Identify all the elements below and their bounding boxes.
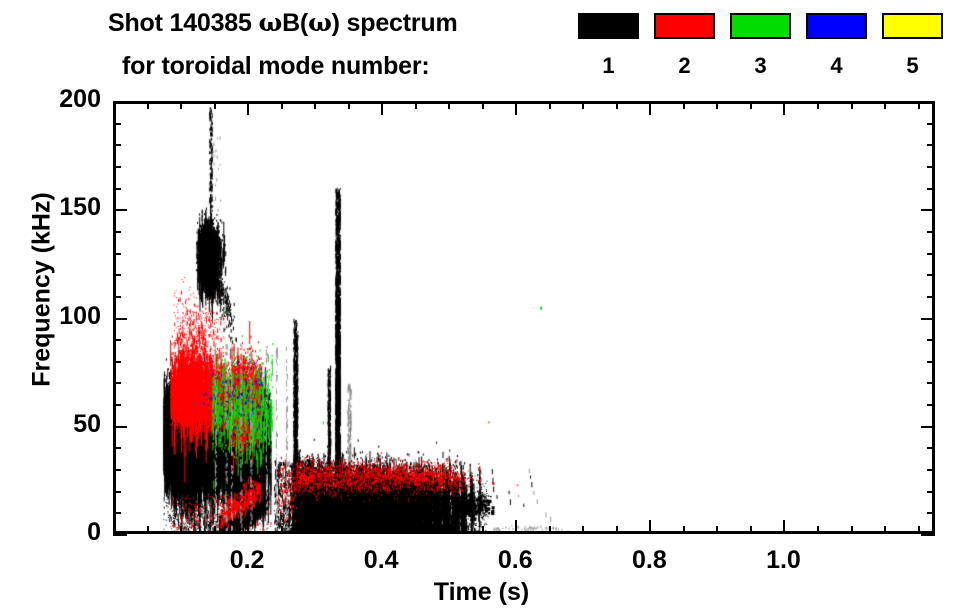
y-tick-100: [113, 318, 127, 320]
x-tick-0.05: [147, 526, 149, 534]
y-tick-right-40: [927, 447, 935, 449]
y-tick-130: [113, 253, 121, 255]
x-tick-top-1.15: [884, 101, 886, 109]
x-tick-top-0.4: [381, 101, 383, 115]
x-tick-top-0.95: [750, 101, 752, 109]
y-tick-right-30: [927, 469, 935, 471]
x-tick-top-0.75: [616, 101, 618, 109]
x-tick-top-1.2: [918, 101, 920, 109]
x-tick-1.05: [817, 526, 819, 534]
x-axis-title: Time (s): [0, 578, 963, 607]
x-tick-top-1: [783, 101, 785, 115]
y-tick-140: [113, 231, 121, 233]
x-tick-top-1.05: [817, 101, 819, 109]
y-tick-20: [113, 491, 121, 493]
figure-title-line2: for toroidal mode number:: [122, 52, 430, 81]
x-tick-1.1: [851, 526, 853, 534]
y-tick-right-90: [927, 339, 935, 341]
y-tick-right-70: [927, 382, 935, 384]
y-tick-70: [113, 382, 121, 384]
y-tick-right-0: [921, 534, 935, 536]
y-tick-120: [113, 274, 121, 276]
x-tick-top-0.45: [415, 101, 417, 109]
x-tick-top-0.5: [448, 101, 450, 109]
x-tick-1.2: [918, 526, 920, 534]
legend-swatch-mode-4: [806, 13, 867, 39]
x-tick-0.25: [281, 526, 283, 534]
x-tick-0.15: [214, 526, 216, 534]
x-axis-label-0.8: 0.8: [604, 546, 694, 575]
y-tick-0: [113, 534, 127, 536]
x-tick-top-0.05: [147, 101, 149, 109]
legend-swatch-mode-3: [730, 13, 791, 39]
y-tick-60: [113, 404, 121, 406]
legend-label-mode-5: 5: [882, 53, 943, 79]
x-tick-top-0.2: [247, 101, 249, 115]
x-tick-top-0.9: [716, 101, 718, 109]
x-tick-1: [783, 520, 785, 534]
legend-swatch-row: [578, 13, 950, 40]
y-tick-50: [113, 426, 127, 428]
y-tick-right-50: [921, 426, 935, 428]
y-axis-label-200: 200: [15, 85, 101, 114]
y-tick-right-10: [927, 512, 935, 514]
y-tick-right-80: [927, 361, 935, 363]
x-tick-top-0.15: [214, 101, 216, 109]
mode-number-legend: 12345: [578, 13, 950, 83]
y-tick-80: [113, 361, 121, 363]
spectrogram-data-canvas: [113, 101, 935, 534]
x-tick-0.6: [515, 520, 517, 534]
y-tick-right-20: [927, 491, 935, 493]
y-tick-40: [113, 447, 121, 449]
x-tick-0.85: [683, 526, 685, 534]
legend-label-mode-1: 1: [578, 53, 639, 79]
y-tick-right-140: [927, 231, 935, 233]
x-tick-top-0.6: [515, 101, 517, 115]
x-axis-label-0.2: 0.2: [202, 546, 292, 575]
y-tick-190: [113, 123, 121, 125]
plot-area: [113, 101, 935, 534]
y-tick-170: [113, 166, 121, 168]
x-tick-0.1: [180, 526, 182, 534]
x-tick-top-1.1: [851, 101, 853, 109]
legend-swatch-mode-2: [654, 13, 715, 39]
y-tick-right-170: [927, 166, 935, 168]
x-tick-0.2: [247, 520, 249, 534]
x-tick-0.95: [750, 526, 752, 534]
x-tick-top-0.55: [482, 101, 484, 109]
y-tick-right-120: [927, 274, 935, 276]
title-shot-text: Shot 140385: [108, 9, 258, 37]
x-tick-top-0.1: [180, 101, 182, 109]
x-tick-top-0.7: [582, 101, 584, 109]
y-tick-90: [113, 339, 121, 341]
y-tick-right-180: [927, 144, 935, 146]
x-tick-0.45: [415, 526, 417, 534]
x-tick-top-0.65: [549, 101, 551, 109]
legend-swatch-mode-1: [578, 13, 639, 39]
x-tick-top-0.25: [281, 101, 283, 109]
omega-symbol-1: ω: [258, 8, 282, 37]
x-axis-label-1.0: 1.0: [738, 546, 828, 575]
y-tick-150: [113, 209, 127, 211]
x-tick-top-0.85: [683, 101, 685, 109]
spectrogram-canvas-wrap: [113, 101, 935, 534]
x-axis-label-0.6: 0.6: [470, 546, 560, 575]
legend-label-mode-3: 3: [730, 53, 791, 79]
x-tick-top-0.8: [649, 101, 651, 115]
legend-label-mode-2: 2: [654, 53, 715, 79]
omega-symbol-2: ω: [308, 8, 332, 37]
y-tick-right-130: [927, 253, 935, 255]
x-tick-0.65: [549, 526, 551, 534]
x-tick-0.3: [314, 526, 316, 534]
x-tick-0.5: [448, 526, 450, 534]
x-tick-0.4: [381, 520, 383, 534]
x-tick-top-0.35: [348, 101, 350, 109]
y-tick-200: [113, 101, 127, 103]
title-b-paren: B(: [282, 9, 308, 37]
y-tick-180: [113, 144, 121, 146]
y-tick-right-200: [921, 101, 935, 103]
x-tick-1.15: [884, 526, 886, 534]
x-tick-0.9: [716, 526, 718, 534]
y-tick-30: [113, 469, 121, 471]
x-tick-0.35: [348, 526, 350, 534]
legend-swatch-mode-5: [882, 13, 943, 39]
y-tick-right-60: [927, 404, 935, 406]
y-tick-right-150: [921, 209, 935, 211]
x-tick-0.75: [616, 526, 618, 534]
x-tick-0.8: [649, 520, 651, 534]
x-tick-0.55: [482, 526, 484, 534]
y-axis-label-0: 0: [15, 518, 101, 547]
y-tick-right-190: [927, 123, 935, 125]
x-axis-label-0.4: 0.4: [336, 546, 426, 575]
y-tick-right-100: [921, 318, 935, 320]
x-tick-top-0.3: [314, 101, 316, 109]
title-spectrum-text: ) spectrum: [332, 9, 458, 37]
y-tick-110: [113, 296, 121, 298]
y-tick-160: [113, 188, 121, 190]
x-tick-0.7: [582, 526, 584, 534]
y-tick-right-160: [927, 188, 935, 190]
spectrogram-figure: Shot 140385 ωB(ω) spectrum for toroidal …: [0, 0, 963, 615]
figure-title-line1: Shot 140385 ωB(ω) spectrum: [108, 8, 457, 38]
y-tick-right-110: [927, 296, 935, 298]
y-axis-title: Frequency (kHz): [28, 160, 57, 420]
y-tick-10: [113, 512, 121, 514]
legend-label-mode-4: 4: [806, 53, 867, 79]
